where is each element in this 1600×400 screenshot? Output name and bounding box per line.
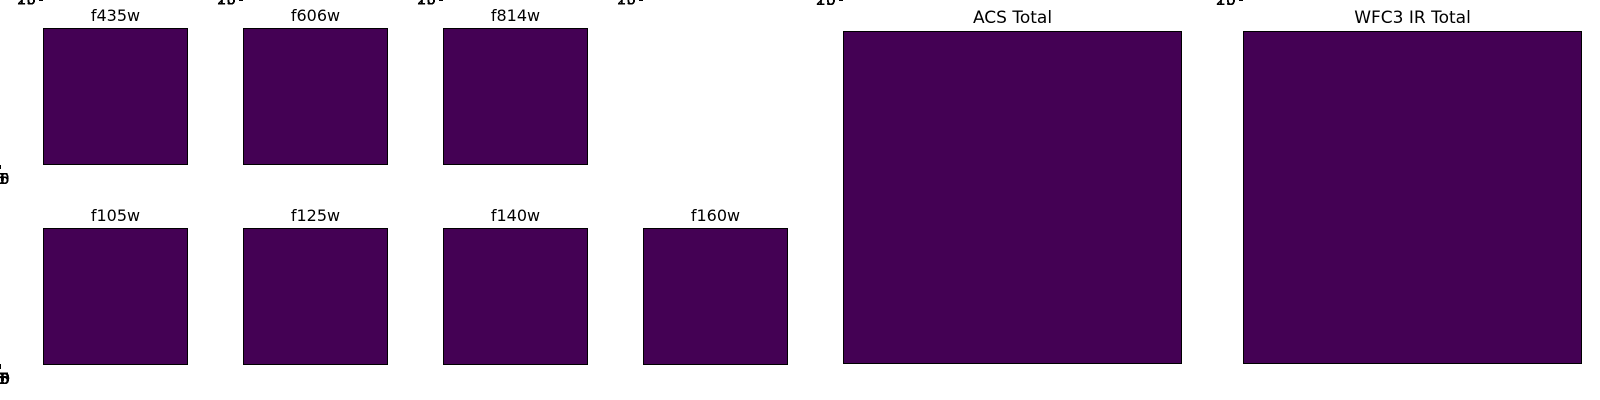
heatmap-plot-area xyxy=(1243,31,1582,364)
heatmap-grid xyxy=(244,229,387,364)
y-tick-label: 20 xyxy=(401,0,436,8)
heatmap-grid xyxy=(1244,32,1581,363)
heatmap-grid xyxy=(44,29,187,164)
x-tick-label: 20 xyxy=(0,172,10,187)
y-tick-label: 20 xyxy=(1201,0,1236,8)
x-tick-label: 20 xyxy=(0,371,10,387)
y-tick-label: 20 xyxy=(1,0,36,8)
heatmap-grid xyxy=(444,29,587,164)
panel-title: f140w xyxy=(443,206,588,225)
heatmap-grid xyxy=(44,229,187,364)
heatmap-plot-area xyxy=(843,31,1182,364)
x-tick-mark xyxy=(0,364,1,368)
y-tick-mark xyxy=(239,0,243,1)
heatmap-plot-area xyxy=(243,228,388,365)
heatmap-grid xyxy=(244,29,387,164)
y-tick-label: 20 xyxy=(801,0,836,8)
heatmap-grid xyxy=(844,32,1181,363)
y-tick-mark xyxy=(439,0,443,1)
heatmap-plot-area xyxy=(443,28,588,165)
panel-title: f814w xyxy=(443,6,588,25)
heatmap-plot-area xyxy=(243,28,388,165)
x-tick-mark xyxy=(0,165,1,169)
panel-title: ACS Total xyxy=(843,8,1182,28)
panel-title: f125w xyxy=(243,206,388,225)
heatmap-plot-area xyxy=(443,228,588,365)
heatmap-plot-area xyxy=(43,28,188,165)
y-tick-label: 20 xyxy=(201,0,236,8)
panel-title: f606w xyxy=(243,6,388,25)
panel-title: f160w xyxy=(643,206,788,225)
y-tick-mark xyxy=(839,0,843,1)
y-tick-label: 20 xyxy=(601,0,636,8)
panel-title: WFC3 IR Total xyxy=(1243,8,1582,28)
y-tick-mark xyxy=(39,0,43,1)
heatmap-grid xyxy=(444,229,587,364)
heatmap-plot-area xyxy=(643,228,788,365)
y-tick-mark xyxy=(1239,0,1243,1)
heatmap-plot-area xyxy=(43,228,188,365)
panel-title: f105w xyxy=(43,206,188,225)
heatmap-grid xyxy=(644,229,787,364)
panel-title: f435w xyxy=(43,6,188,25)
y-tick-mark xyxy=(639,0,643,1)
